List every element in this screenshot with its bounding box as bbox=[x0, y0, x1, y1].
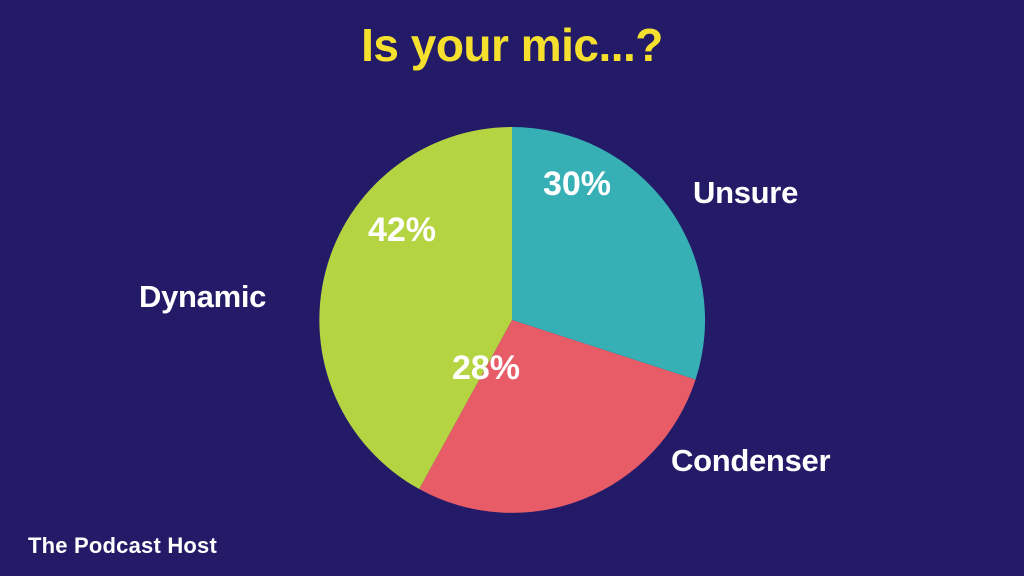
page-title: Is your mic...? bbox=[0, 20, 1024, 71]
slide-canvas: Is your mic...? 30% 28% 42% Unsure Conde… bbox=[0, 0, 1024, 576]
brand-logo: The Podcast Host bbox=[28, 533, 217, 559]
pie-chart: 30% 28% 42% bbox=[319, 127, 705, 513]
pie-chart-svg: 30% 28% 42% bbox=[319, 127, 705, 513]
pie-value-unsure: 30% bbox=[543, 165, 611, 203]
pie-label-dynamic: Dynamic bbox=[139, 279, 266, 315]
pie-value-condenser: 28% bbox=[452, 349, 520, 387]
pie-value-dynamic: 42% bbox=[368, 211, 436, 249]
pie-label-unsure: Unsure bbox=[693, 175, 798, 211]
pie-label-condenser: Condenser bbox=[671, 443, 830, 479]
